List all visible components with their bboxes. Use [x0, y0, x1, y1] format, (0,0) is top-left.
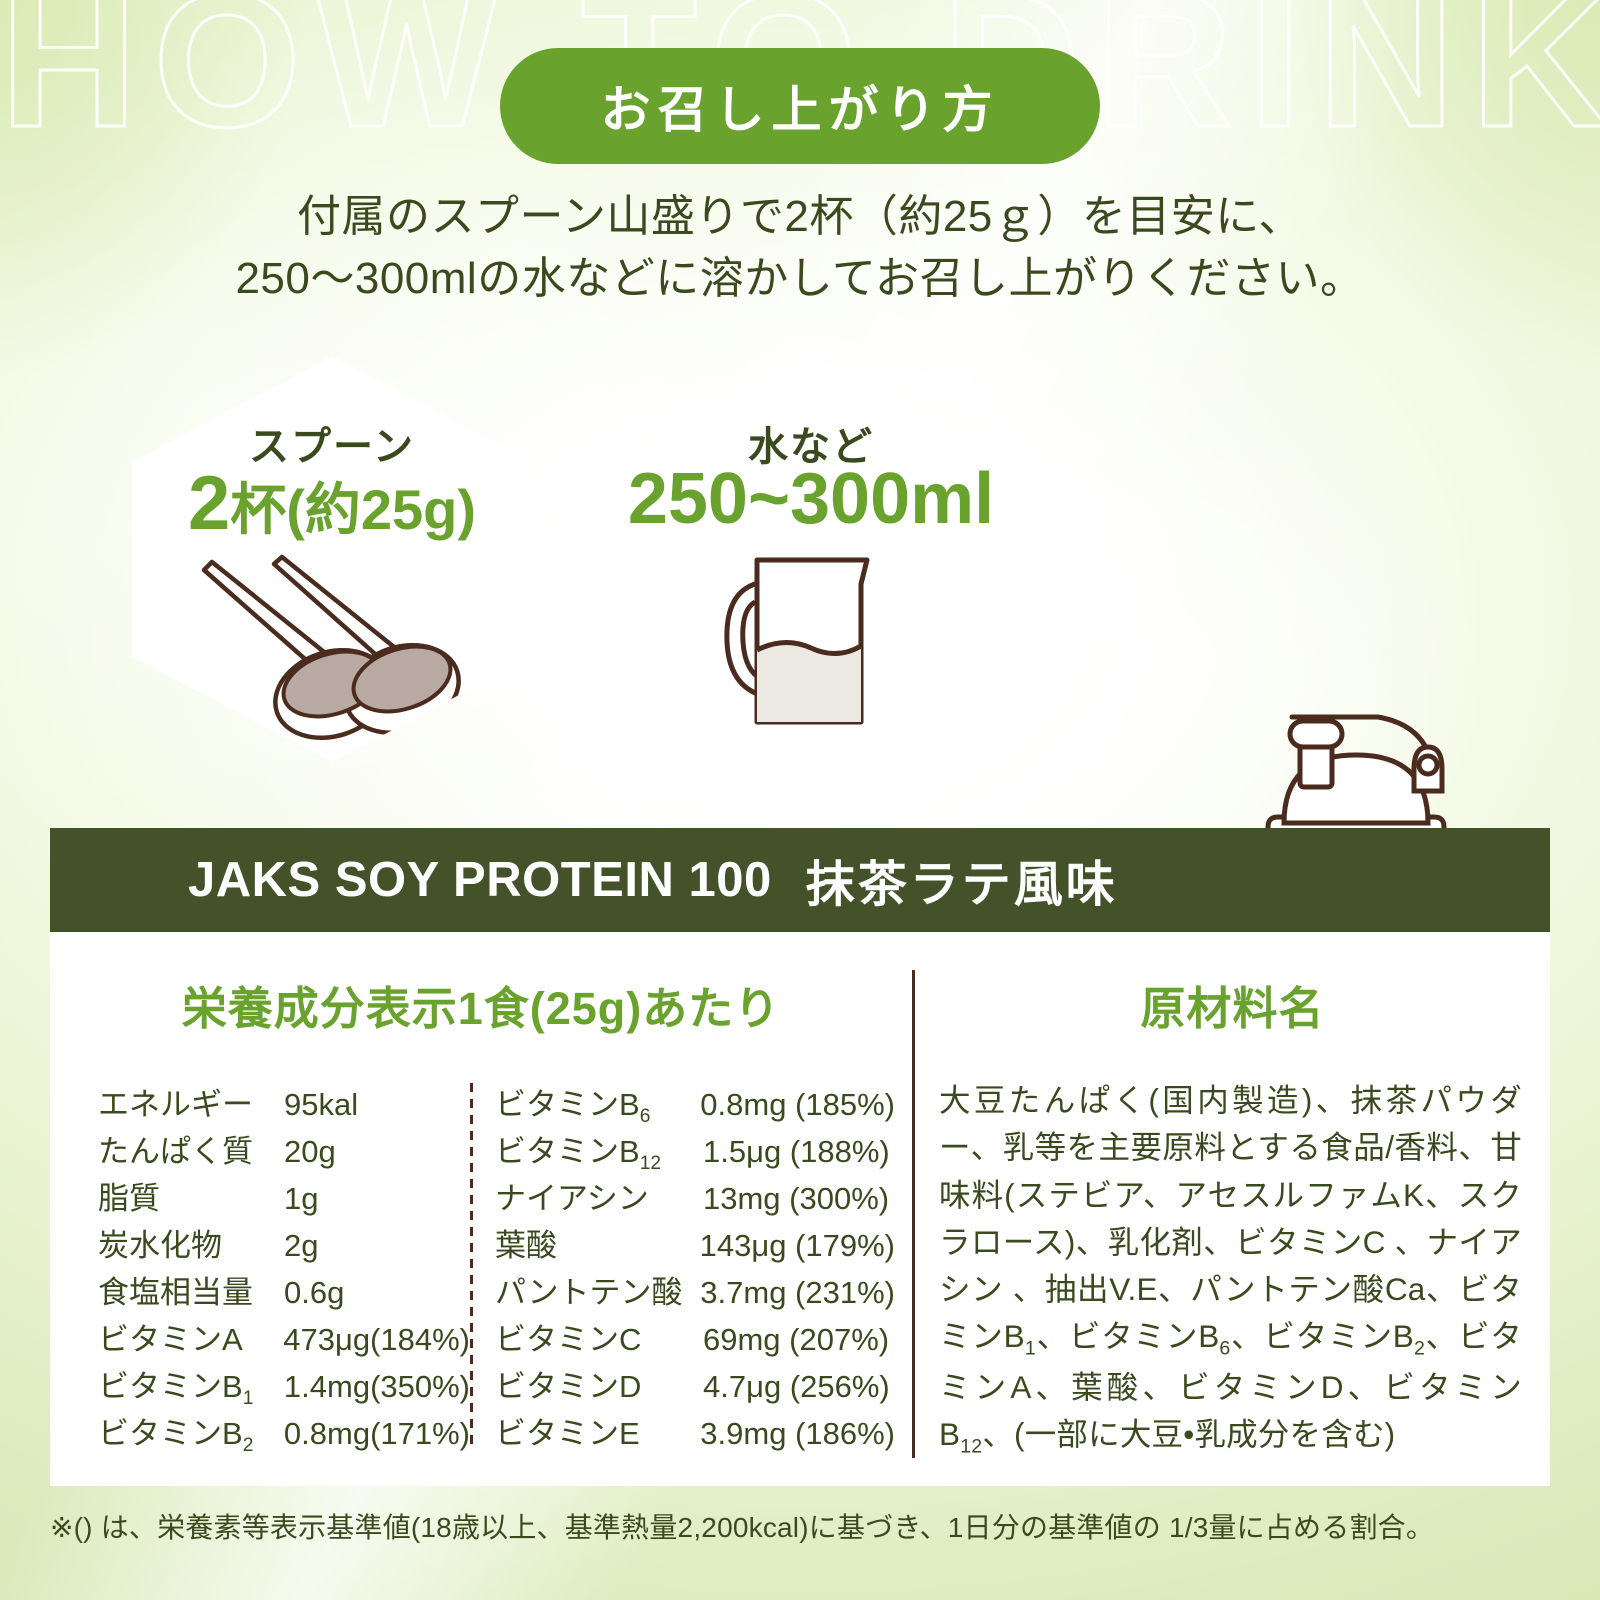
- nutrition-row-label: ビタミンB2: [98, 1408, 284, 1457]
- nutrition-row: ビタミンB20.8mg(171%): [98, 1408, 470, 1455]
- instructions-paragraph: 付属のスプーン山盛りで2杯（約25ｇ）を目安に、 250～300mlの水などに溶…: [0, 186, 1600, 311]
- nutrition-row-label: ビタミンB1: [98, 1361, 284, 1410]
- instructions-line-2: 250～300mlの水などに溶かしてお召し上がりください。: [0, 248, 1600, 310]
- pitcher-icon: [625, 546, 997, 736]
- nutrition-row-label: たんぱく質: [98, 1126, 284, 1171]
- nutrition-row-value: 3.9mg (186%): [700, 1416, 895, 1452]
- nutrition-row-label: ビタミンD: [495, 1361, 703, 1406]
- nutrition-row-value: 0.8mg(171%): [284, 1416, 470, 1452]
- nutrition-row-label: ビタミンE: [495, 1408, 700, 1453]
- footnote-text: ※() は、栄養素等表示基準値(18歳以上、基準熱量2,200kcal)に基づき…: [50, 1506, 1562, 1546]
- steps-row: スプーン 2杯(約25g) 水など 250~300ml: [0, 352, 1600, 782]
- step-water-amount: 250~300ml: [625, 458, 997, 540]
- nutrition-row-value: 143μg (179%): [700, 1228, 895, 1264]
- ingredients-body: 大豆たんぱく(国内製造)、抹茶パウダー、乳等を主要原料とする食品/香料、甘味料(…: [939, 1077, 1522, 1462]
- nutrition-row-value: 0.8mg (185%): [700, 1087, 895, 1123]
- nutrition-row: たんぱく質20g: [98, 1126, 470, 1173]
- ingredients-column: 原材料名 大豆たんぱく(国内製造)、抹茶パウダー、乳等を主要原料とする食品/香料…: [915, 932, 1550, 1486]
- nutrition-row-value: 69mg (207%): [703, 1322, 889, 1358]
- step-spoon-amount-unit: 杯(約25g): [230, 478, 476, 541]
- nutrition-row-value: 13mg (300%): [703, 1181, 889, 1217]
- product-header-bar: JAKS SOY PROTEIN 100 抹茶ラテ風味: [50, 828, 1550, 932]
- nutrition-row-value: 1g: [284, 1181, 318, 1217]
- nutrition-row: 食塩相当量0.6g: [98, 1267, 470, 1314]
- nutrition-row-value: 3.7mg (231%): [700, 1275, 895, 1311]
- nutrition-row-label: 炭水化物: [98, 1220, 284, 1265]
- nutrition-row: パントテン酸3.7mg (231%): [495, 1267, 895, 1314]
- nutrition-row: 脂質1g: [98, 1173, 470, 1220]
- nutrition-row-value: 4.7μg (256%): [703, 1369, 890, 1405]
- nutrition-row-value: 2g: [284, 1228, 318, 1264]
- nutrition-row-value: 0.6g: [284, 1275, 344, 1311]
- two-scoops-icon: [132, 552, 532, 752]
- nutrition-row-label: ビタミンC: [495, 1314, 703, 1359]
- nutrition-row: ビタミンE3.9mg (186%): [495, 1408, 895, 1455]
- nutrition-column: 栄養成分表示1食(25g)あたり エネルギー95kalたんぱく質20g脂質1g炭…: [50, 932, 912, 1486]
- nutrition-row: 葉酸143μg (179%): [495, 1220, 895, 1267]
- nutrition-row-label: ビタミンB6: [495, 1079, 700, 1128]
- nutrition-row: ビタミンA473μg(184%): [98, 1314, 470, 1361]
- nutrition-table-left: エネルギー95kalたんぱく質20g脂質1g炭水化物2g食塩相当量0.6gビタミ…: [98, 1079, 470, 1455]
- nutrition-tables: エネルギー95kalたんぱく質20g脂質1g炭水化物2g食塩相当量0.6gビタミ…: [50, 1079, 912, 1455]
- nutrition-dotted-divider: [470, 1083, 473, 1451]
- ingredients-heading: 原材料名: [915, 932, 1550, 1037]
- step-spoon-amount-number: 2: [188, 461, 230, 546]
- nutrition-row-value: 95kal: [284, 1087, 358, 1123]
- section-title-label: お召し上がり方: [601, 70, 1000, 142]
- nutrition-table-right: ビタミンB60.8mg (185%)ビタミンB121.5μg (188%)ナイア…: [495, 1079, 895, 1455]
- nutrition-row-value: 1.5μg (188%): [703, 1134, 890, 1170]
- nutrition-row-label: 葉酸: [495, 1220, 700, 1265]
- nutrition-row-value: 473μg(184%): [283, 1322, 470, 1358]
- section-title-pill: お召し上がり方: [500, 48, 1100, 164]
- nutrition-row-label: ビタミンB12: [495, 1126, 703, 1175]
- nutrition-row-label: ナイアシン: [495, 1173, 703, 1218]
- nutrition-heading: 栄養成分表示1食(25g)あたり: [50, 932, 912, 1037]
- nutrition-row: エネルギー95kal: [98, 1079, 470, 1126]
- nutrition-card: JAKS SOY PROTEIN 100 抹茶ラテ風味 栄養成分表示1食(25g…: [50, 828, 1550, 1486]
- nutrition-row-label: 脂質: [98, 1173, 284, 1218]
- nutrition-row: ビタミンB60.8mg (185%): [495, 1079, 895, 1126]
- nutrition-row: ナイアシン13mg (300%): [495, 1173, 895, 1220]
- nutrition-row-label: 食塩相当量: [98, 1267, 284, 1312]
- step-spoon-amount: 2杯(約25g): [132, 460, 532, 547]
- nutrition-row: 炭水化物2g: [98, 1220, 470, 1267]
- nutrition-row-value: 1.4mg(350%): [284, 1369, 470, 1405]
- nutrition-row-label: エネルギー: [98, 1079, 284, 1124]
- card-body: 栄養成分表示1食(25g)あたり エネルギー95kalたんぱく質20g脂質1g炭…: [50, 932, 1550, 1486]
- nutrition-row: ビタミンB121.5μg (188%): [495, 1126, 895, 1173]
- nutrition-row: ビタミンC69mg (207%): [495, 1314, 895, 1361]
- nutrition-row: ビタミンB11.4mg(350%): [98, 1361, 470, 1408]
- nutrition-row-value: 20g: [284, 1134, 336, 1170]
- product-brand-name: JAKS SOY PROTEIN 100: [188, 852, 772, 908]
- nutrition-row: ビタミンD4.7μg (256%): [495, 1361, 895, 1408]
- step-water-hexagon: 水など 250~300ml: [625, 356, 997, 762]
- nutrition-row-label: ビタミンA: [98, 1314, 283, 1359]
- instructions-line-1: 付属のスプーン山盛りで2杯（約25ｇ）を目安に、: [0, 186, 1600, 248]
- nutrition-row-label: パントテン酸: [495, 1267, 700, 1312]
- step-spoon-hexagon: スプーン 2杯(約25g): [132, 356, 532, 762]
- product-flavor-name: 抹茶ラテ風味: [806, 845, 1118, 916]
